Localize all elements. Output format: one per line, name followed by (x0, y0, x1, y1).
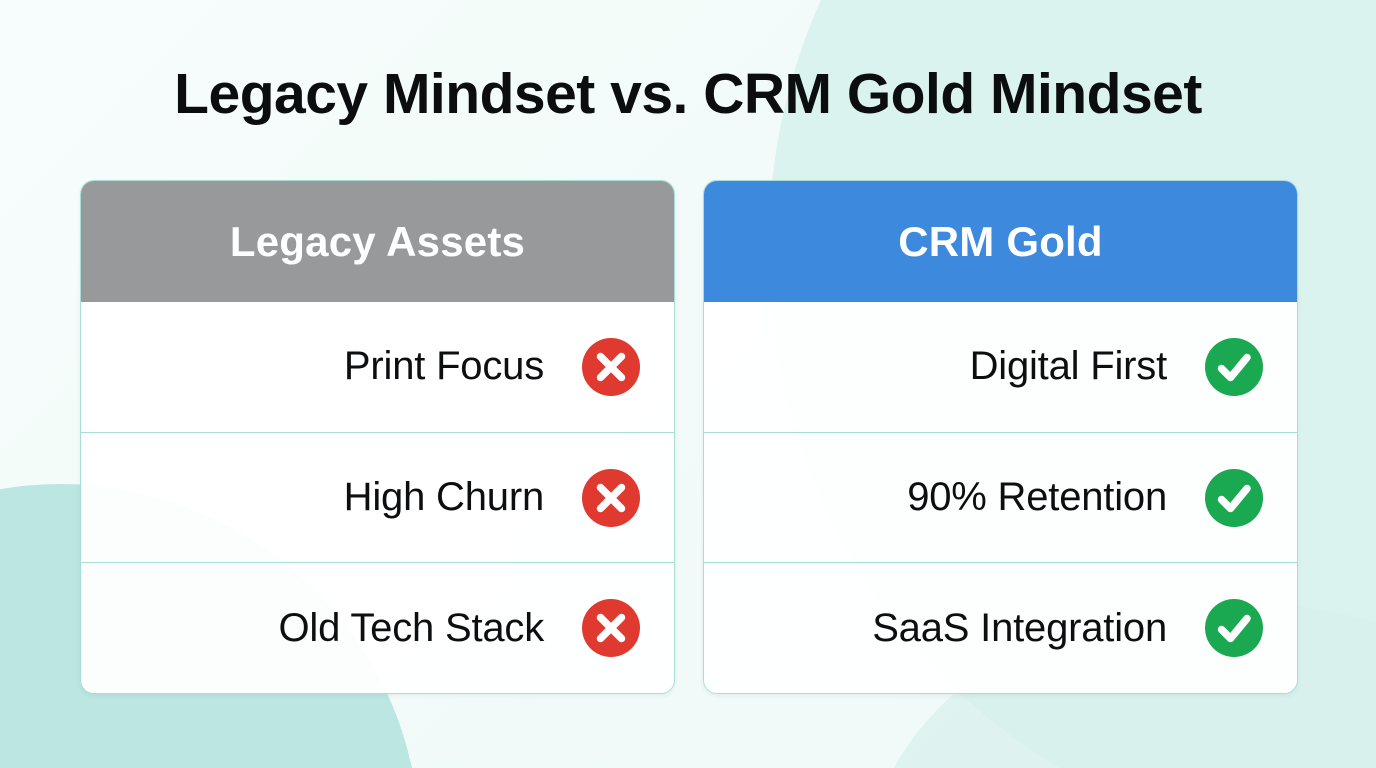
row-label: SaaS Integration (872, 606, 1167, 651)
column-header-legacy: Legacy Assets (81, 181, 674, 302)
cross-circle-icon (582, 469, 640, 527)
table-row[interactable]: High Churn (81, 432, 674, 563)
table-row[interactable]: SaaS Integration (704, 562, 1297, 693)
cross-circle-icon (582, 599, 640, 657)
column-header-legacy-label: Legacy Assets (230, 218, 525, 266)
table-row[interactable]: 90% Retention (704, 432, 1297, 563)
check-circle-icon (1205, 599, 1263, 657)
cross-circle-icon (582, 338, 640, 396)
check-circle-icon (1205, 338, 1263, 396)
table-row[interactable]: Print Focus (81, 302, 674, 432)
row-label: Digital First (970, 344, 1167, 389)
row-label: 90% Retention (907, 475, 1167, 520)
slide-content: Legacy Mindset vs. CRM Gold Mindset Lega… (0, 0, 1376, 768)
row-label: High Churn (344, 475, 544, 520)
row-label: Print Focus (344, 344, 544, 389)
comparison-card-gold: CRM Gold Digital First 90% Retention (703, 180, 1298, 694)
table-row[interactable]: Old Tech Stack (81, 562, 674, 693)
comparison-card-legacy: Legacy Assets Print Focus High Churn (80, 180, 675, 694)
column-header-gold-label: CRM Gold (898, 218, 1103, 266)
page-title: Legacy Mindset vs. CRM Gold Mindset (0, 62, 1376, 128)
table-row[interactable]: Digital First (704, 302, 1297, 432)
check-circle-icon (1205, 469, 1263, 527)
row-label: Old Tech Stack (279, 606, 544, 651)
column-body-gold: Digital First 90% Retention (704, 302, 1297, 693)
comparison-columns: Legacy Assets Print Focus High Churn (80, 180, 1298, 694)
column-body-legacy: Print Focus High Churn (81, 302, 674, 693)
column-header-gold: CRM Gold (704, 181, 1297, 302)
